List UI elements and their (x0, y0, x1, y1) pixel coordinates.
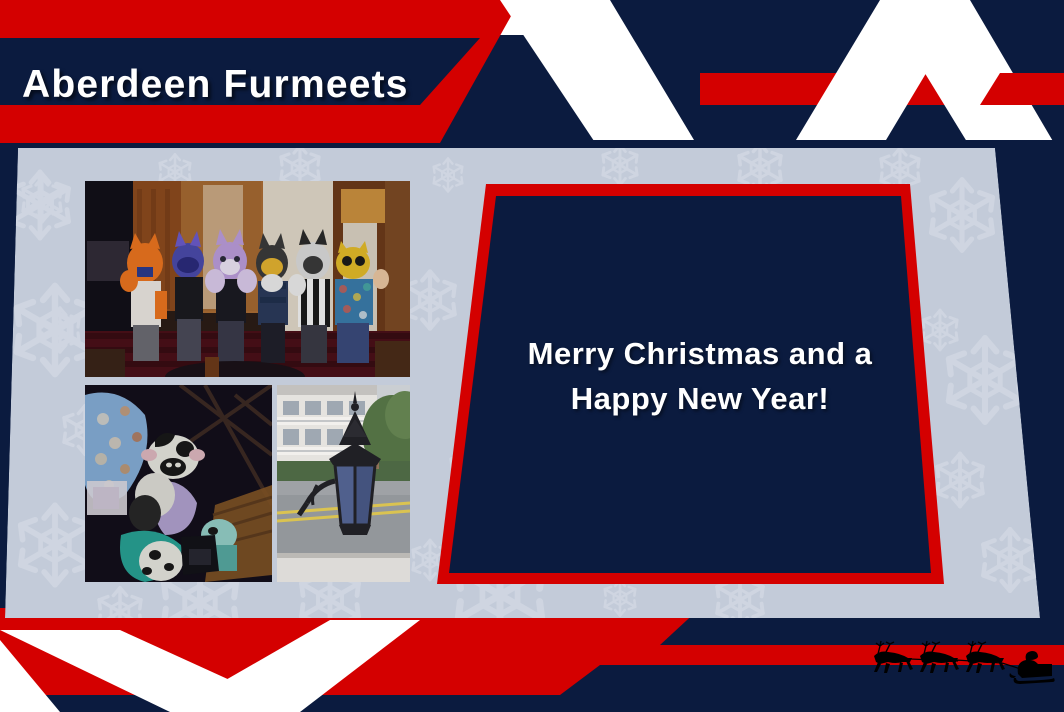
group-fursuit-photo-image (85, 181, 410, 377)
group-fursuit-photo (85, 181, 410, 377)
greeting-text: Merry Christmas and a Happy New Year! (420, 332, 980, 422)
greeting-line-2: Happy New Year! (420, 377, 980, 422)
greeting-line-1: Merry Christmas and a (420, 332, 980, 377)
reindeer-icon (874, 641, 913, 673)
night-fursuit-photo (85, 385, 272, 582)
lamp-post-photo-image (277, 385, 410, 582)
santa-sleigh-reindeer-icon (866, 640, 1058, 686)
greeting-panel: Merry Christmas and a Happy New Year! (420, 170, 980, 590)
night-fursuit-photo-image (85, 385, 272, 582)
holiday-card: Aberdeen Furmeets (0, 0, 1064, 712)
reindeer-icon (966, 641, 1005, 673)
page-title: Aberdeen Furmeets (22, 63, 409, 107)
lamp-post-photo (277, 385, 410, 582)
reindeer-icon (920, 641, 959, 673)
